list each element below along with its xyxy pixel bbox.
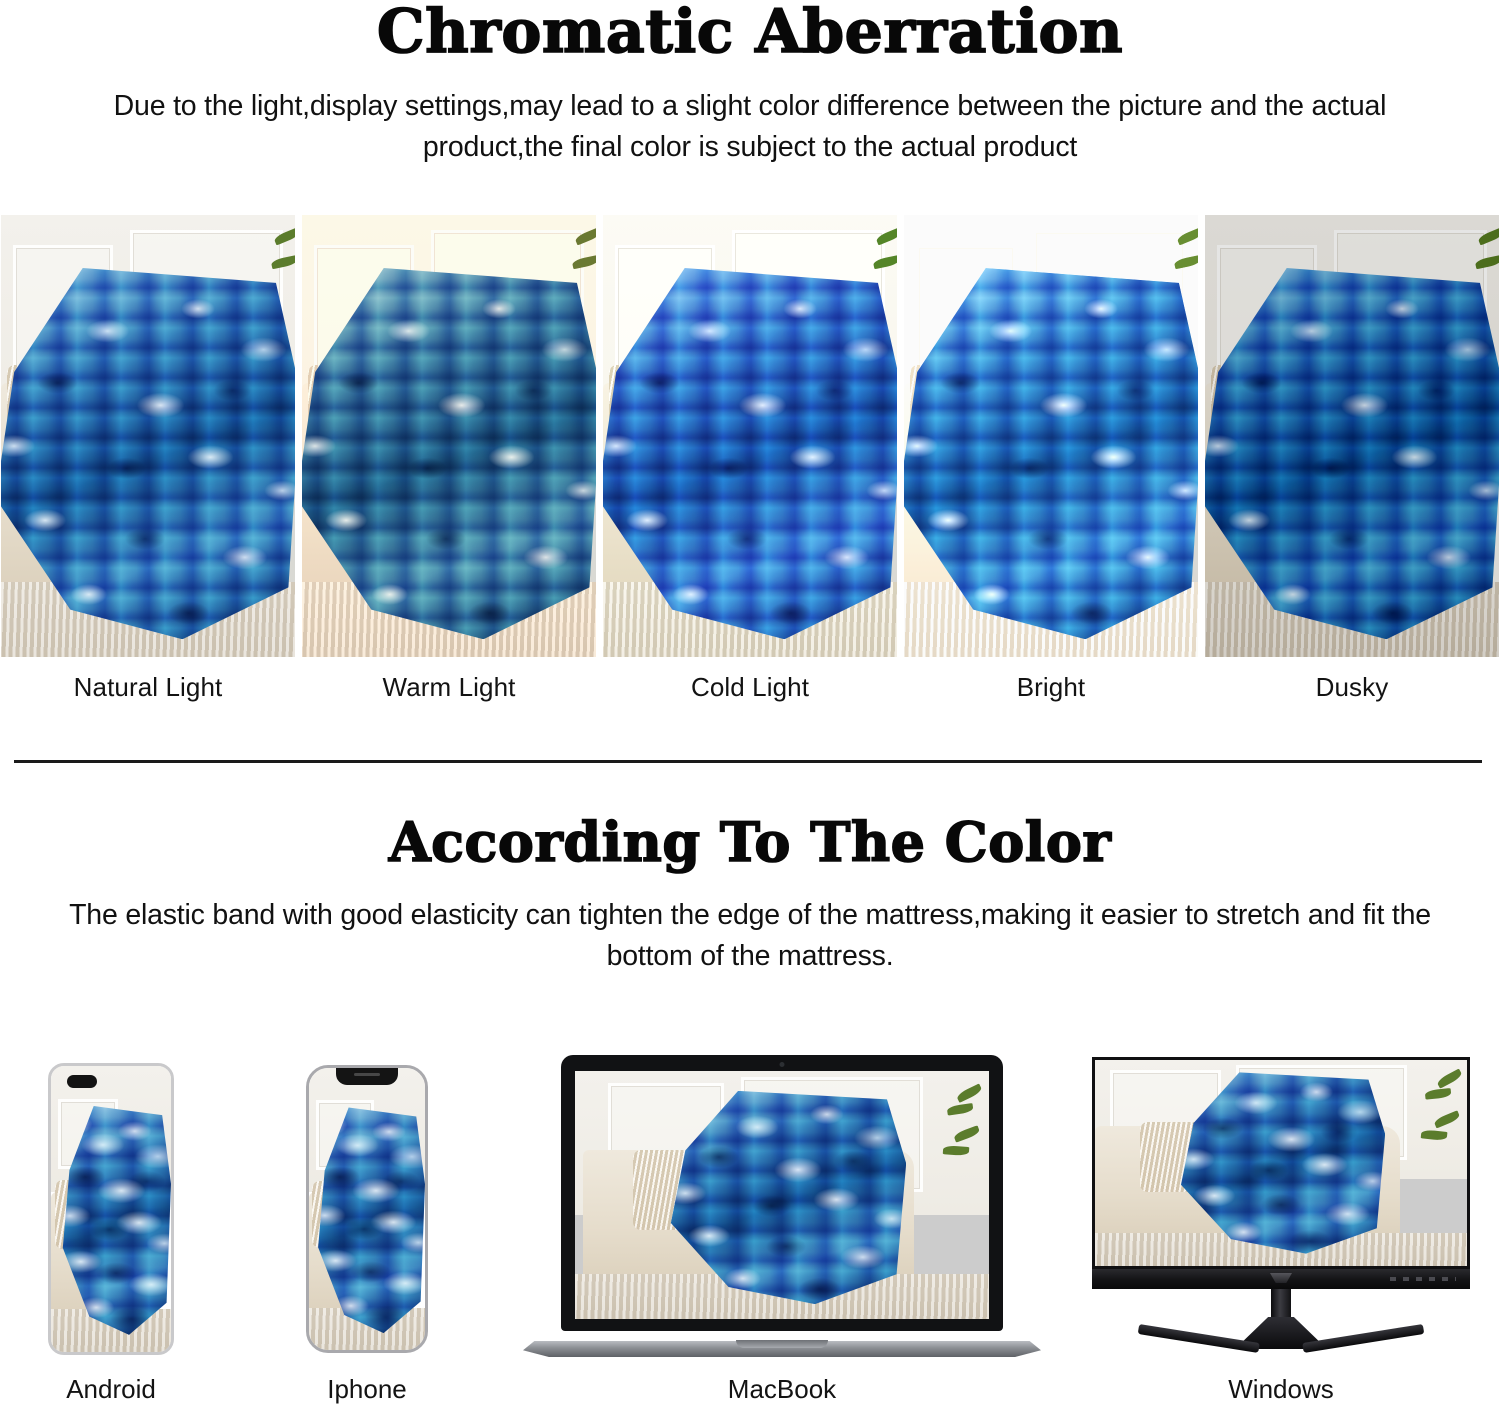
webcam-icon	[780, 1062, 785, 1067]
monitor-screen	[1095, 1060, 1467, 1266]
lighting-label-row: Natural Light Warm Light Cold Light Brig…	[0, 672, 1500, 703]
room-scene	[309, 1068, 425, 1350]
plant-icon	[927, 1075, 981, 1215]
monitor-stand-foot	[1137, 1343, 1425, 1363]
photo-panel-dusky[interactable]	[1205, 215, 1499, 657]
photo-panel-cold-light[interactable]	[603, 215, 897, 657]
room-scene	[1, 215, 295, 657]
macbook-screen	[575, 1071, 989, 1319]
macbook-hinge-notch	[736, 1340, 828, 1348]
device-label-row: Android Iphone MacBook Windows	[0, 1374, 1500, 1414]
android-phone-frame	[48, 1063, 174, 1355]
device-label-windows: Windows	[1092, 1374, 1470, 1405]
iphone-frame	[306, 1065, 428, 1353]
section-divider	[14, 760, 1482, 763]
according-to-the-color-section: According To The Color The elastic band …	[0, 815, 1500, 978]
photo-label-bright: Bright	[904, 672, 1198, 703]
room-scene	[575, 1071, 989, 1319]
device-mockup-android[interactable]	[48, 1063, 174, 1355]
device-label-android: Android	[48, 1374, 174, 1405]
device-mockup-iphone[interactable]	[306, 1065, 428, 1353]
photo-panel-bright[interactable]	[904, 215, 1198, 657]
notch-icon	[336, 1068, 398, 1085]
room-scene	[603, 215, 897, 657]
photo-label-dusky: Dusky	[1205, 672, 1499, 703]
device-mockup-windows-monitor[interactable]	[1092, 1057, 1470, 1363]
chromatic-aberration-description: Due to the light,display settings,may le…	[50, 86, 1450, 169]
lighting-photo-strip	[0, 215, 1500, 657]
device-mockup-macbook[interactable]	[523, 1055, 1041, 1365]
monitor-bezel	[1092, 1057, 1470, 1269]
room-scene	[1095, 1060, 1467, 1266]
page-title-chromatic-aberration: Chromatic Aberration	[0, 0, 1500, 62]
monitor-osd-buttons[interactable]	[1390, 1277, 1456, 1281]
photo-panel-warm-light[interactable]	[302, 215, 596, 657]
earpiece-speaker-icon	[354, 1073, 380, 1076]
room-scene	[51, 1066, 171, 1352]
room-scene	[1205, 215, 1499, 657]
device-label-iphone: Iphone	[306, 1374, 428, 1405]
chromatic-aberration-section: Chromatic Aberration Due to the light,di…	[0, 0, 1500, 169]
camera-punchhole-icon	[67, 1075, 97, 1088]
plant-icon	[1409, 1062, 1461, 1212]
page-title-according-to-the-color: According To The Color	[0, 815, 1500, 869]
according-to-the-color-description: The elastic band with good elasticity ca…	[50, 895, 1450, 978]
photo-label-cold-light: Cold Light	[603, 672, 897, 703]
room-scene	[904, 215, 1198, 657]
room-scene	[302, 215, 596, 657]
photo-label-warm-light: Warm Light	[302, 672, 596, 703]
photo-panel-natural-light[interactable]	[1, 215, 295, 657]
macbook-lid	[561, 1055, 1003, 1331]
device-mockup-strip	[0, 1055, 1500, 1365]
device-label-macbook: MacBook	[523, 1374, 1041, 1405]
photo-label-natural-light: Natural Light	[1, 672, 295, 703]
